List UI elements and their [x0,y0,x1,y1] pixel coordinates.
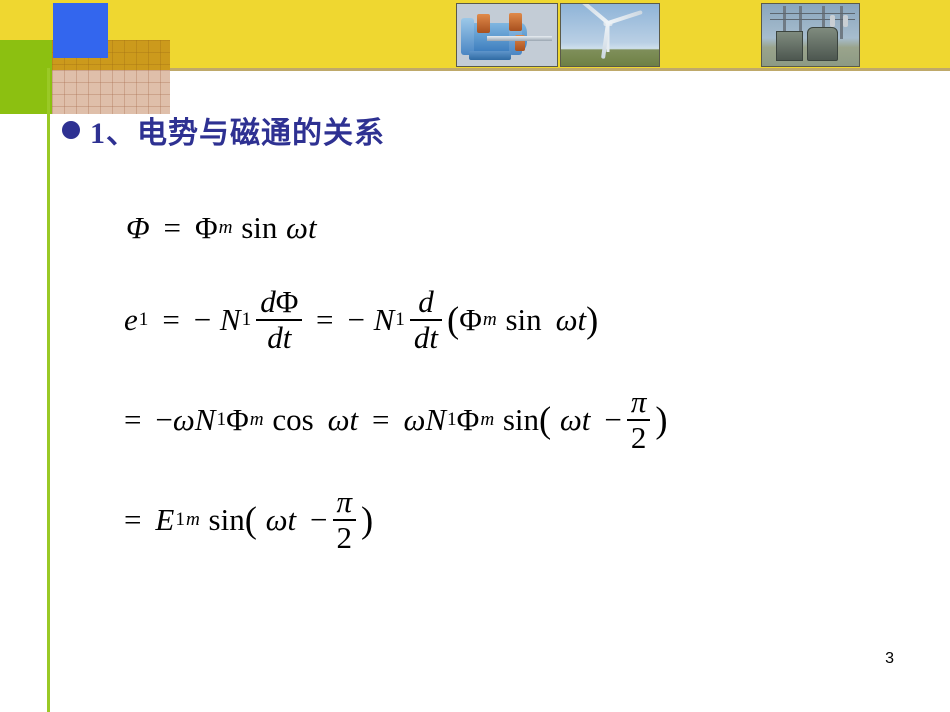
motor-coil-a [477,14,490,33]
substation-transformer-1 [776,31,803,62]
blue-square-decoration [53,3,108,58]
eq3-t-1: t [349,402,358,438]
eq3-right-paren: ) [655,398,667,441]
eq4-minus: − [310,502,327,538]
eq2-minus-2: − [347,302,364,338]
eq3-omega-2: ω [328,402,350,438]
eq1-t: t [308,210,317,246]
eq1-equals: = [164,210,181,246]
slide-title: 1、电势与磁通的关系 [62,108,385,152]
substation-wire-2 [770,19,855,20]
eq3-fraction-pi-over-2: π 2 [627,386,651,453]
wind-turbine-photo [560,3,660,67]
eq2-frac2-numerator: d [414,286,438,318]
eq3-minus-2: − [604,402,621,438]
eq1-omega: ω [286,210,308,246]
left-vertical-accent-line [47,68,50,712]
eq2-frac1-numerator: dΦ [256,286,302,318]
eq3-t-2: t [582,402,591,438]
eq3-frac-numerator-pi: π [627,386,651,418]
eq2-N-2: N [374,302,395,338]
eq3-N-subscript-2: 1 [447,409,457,431]
eq3-cos: cos [272,402,313,438]
eq4-frac-numerator-pi: π [333,486,357,518]
eq2-frac1-denominator: dt [263,322,295,354]
eq4-E-subscript-1: 1 [175,509,185,531]
eq2-equals-2: = [316,302,333,338]
substation-insulator-1 [830,15,835,27]
eq2-N-1: N [220,302,241,338]
eq1-lhs-phi: Φ [126,210,150,246]
slide-title-text: 1、电势与磁通的关系 [90,108,385,152]
eq1-sin: sin [241,210,277,246]
eq3-N-1: N [195,402,216,438]
eq3-omega-4: ω [560,402,582,438]
eq3-frac-denominator-2: 2 [627,422,651,454]
page-number: 3 [885,650,894,668]
equation-3: = − ω N 1 Φ m cos ω t = ω N 1 Φ m sin ( … [124,386,668,453]
eq4-equals: = [124,502,141,538]
substation-insulator-2 [843,15,848,27]
eq2-frac2-denominator: dt [410,322,442,354]
eq3-N-subscript-1: 1 [216,409,226,431]
eq3-left-paren: ( [539,398,551,441]
eq2-e-subscript: 1 [139,309,149,331]
turbine-sky-background [561,4,659,66]
eq4-left-paren: ( [245,498,257,541]
electric-motor-cutaway-photo [456,3,558,67]
equation-2: e 1 = − N 1 dΦ dt = − N 1 d dt ( Φ m sin… [124,286,598,353]
eq3-minus: − [155,402,172,438]
eq4-sin: sin [209,502,245,538]
eq3-phi-subscript-m-2: m [480,409,494,431]
eq2-fraction-dphi-dt: dΦ dt [256,286,302,353]
eq3-sin: sin [503,402,539,438]
eq4-right-paren: ) [361,498,373,541]
eq3-phi-subscript-m-1: m [250,409,264,431]
eq4-frac-denominator-2: 2 [333,522,357,554]
substation-wire-1 [770,13,855,14]
equation-1: Φ = Φ m sin ω t [126,210,317,246]
eq2-N-subscript-1: 1 [242,309,252,331]
eq3-phi-2: Φ [457,402,480,438]
eq2-right-paren: ) [586,298,598,341]
eq2-e: e [124,302,138,338]
eq3-omega-1: ω [173,402,195,438]
motor-coil-b [509,13,522,32]
eq3-phi-1: Φ [226,402,249,438]
substation-transformer-photo [761,3,860,67]
substation-pylon-4 [840,6,843,38]
motor-base [469,51,511,60]
motor-end-cap-left [461,18,474,55]
eq2-sin: sin [505,302,541,338]
eq2-phi: Φ [459,302,482,338]
eq4-fraction-pi-over-2: π 2 [333,486,357,553]
eq4-E-subscript-m: m [186,509,200,531]
eq3-omega-3: ω [403,402,425,438]
eq4-E: E [155,502,174,538]
bullet-icon [62,121,80,139]
eq2-phi-subscript-m: m [483,309,497,331]
eq2-fraction-d-dt: d dt [410,286,442,353]
eq4-t: t [287,502,296,538]
eq3-equals-2: = [372,402,389,438]
substation-transformer-2 [807,27,838,61]
eq3-equals-1: = [124,402,141,438]
eq2-N-subscript-2: 1 [395,309,405,331]
eq1-subscript-m: m [219,217,233,239]
eq2-left-paren: ( [447,298,459,341]
eq1-phi: Φ [195,210,218,246]
eq3-N-2: N [425,402,446,438]
motor-shaft [487,36,552,40]
equation-4: = E 1 m sin ( ω t − π 2 ) [124,486,373,553]
eq2-t: t [577,302,586,338]
eq2-equals-1: = [162,302,179,338]
eq4-omega: ω [266,502,288,538]
eq2-omega: ω [556,302,578,338]
eq2-minus-1: − [194,302,211,338]
